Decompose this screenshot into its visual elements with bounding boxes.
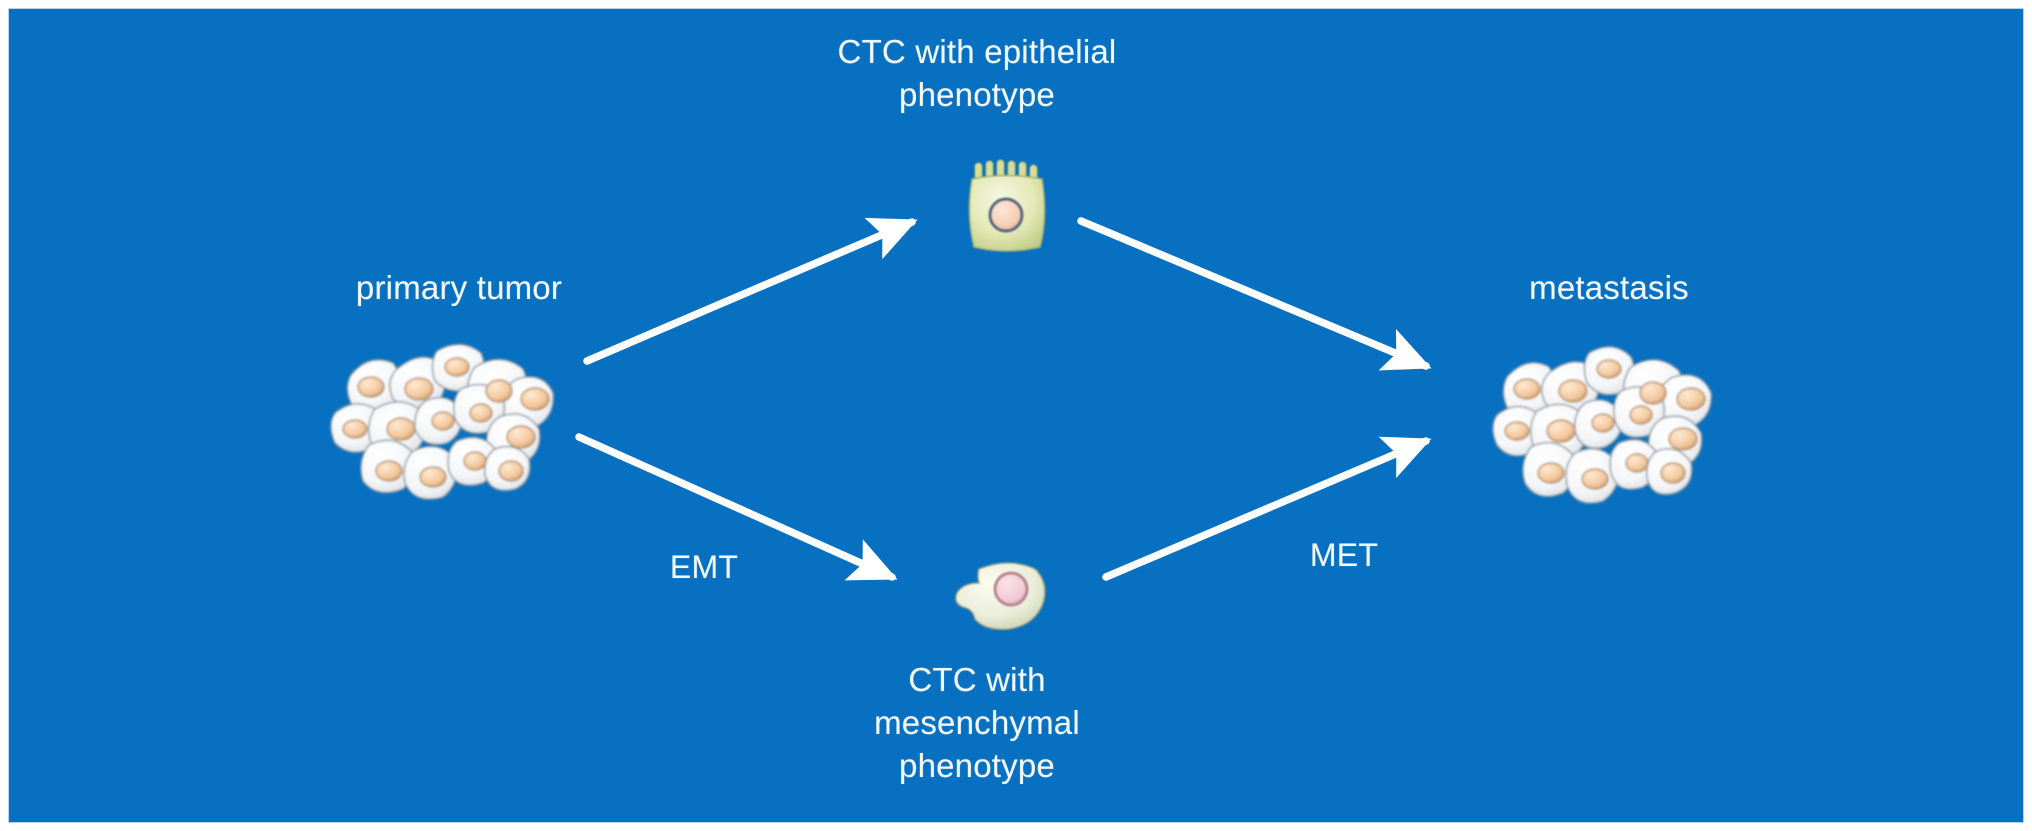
label-metastasis: metastasis	[1439, 267, 1779, 310]
tumor-cell-cluster-icon-primary	[309, 329, 589, 509]
label-emt: EMT	[609, 547, 799, 589]
arrow-epithelial-to-metastasis	[1081, 221, 1426, 366]
label-primary-tumor: primary tumor	[289, 267, 629, 310]
diagram-canvas: CTC with epithelial phenotype primary tu…	[8, 8, 2024, 823]
arrow-primary-to-epithelial	[587, 222, 912, 361]
tumor-cell-cluster-icon-metastasis	[1477, 329, 1757, 509]
epithelial-cell-icon	[959, 157, 1055, 257]
label-ctc-epithelial: CTC with epithelial phenotype	[757, 31, 1197, 117]
mesenchymal-cell-icon	[949, 549, 1069, 649]
label-ctc-mesenchymal: CTC with mesenchymal phenotype	[757, 659, 1197, 788]
diagram-figure: CTC with epithelial phenotype primary tu…	[0, 0, 2032, 831]
label-met: MET	[1249, 535, 1439, 577]
